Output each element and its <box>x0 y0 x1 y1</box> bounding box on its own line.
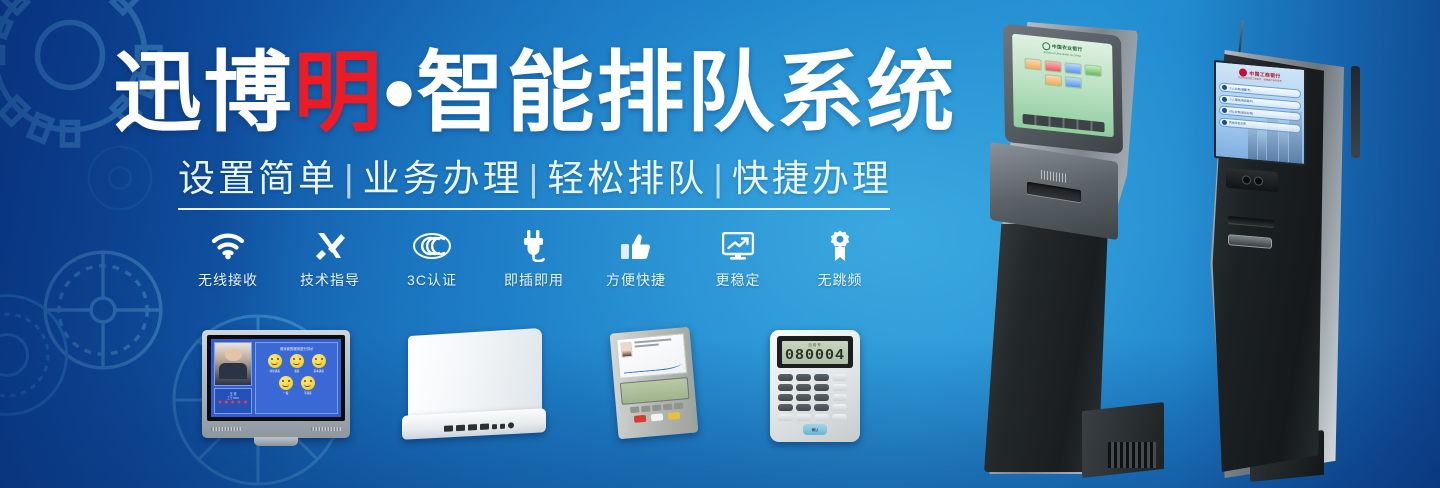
service-tile[interactable] <box>1084 64 1101 77</box>
subtitle-separator: | <box>523 158 548 199</box>
evaluator-body <box>610 327 699 440</box>
option-label: 个人业务(储蓄卡) <box>1229 86 1250 92</box>
keypad-key[interactable] <box>778 394 793 401</box>
card-photo <box>620 342 632 358</box>
card-id-line <box>635 343 659 347</box>
router-port <box>480 423 489 429</box>
keypad-key[interactable] <box>796 384 811 391</box>
option-label: 其他综合业务 <box>1229 120 1246 125</box>
subtitle-separator: | <box>707 158 732 199</box>
screen-bottom-strip <box>1023 114 1105 133</box>
face-caption: 非常满意 <box>267 369 282 373</box>
monitor-stand <box>254 437 298 446</box>
kiosk-right-antenna <box>1238 20 1244 54</box>
feature-item-nohop: 无跳频 <box>790 226 890 290</box>
speaker-grille <box>211 427 241 431</box>
keypad-key[interactable] <box>832 384 847 391</box>
feature-item-wireless: 无线接收 <box>178 226 278 290</box>
gear-icon <box>0 255 100 455</box>
photo-head <box>225 349 242 362</box>
monitor-rating-panel: 请对我的服务进行评价 非常满意 满意 基本满意 一般 不满意 <box>255 342 338 414</box>
feature-label: 无跳频 <box>790 270 890 290</box>
product-evaluation-monitor: 王 芳 工号 0001 ★★★★★ 请对我的服务进行评价 非常满意 满意 基本满… <box>202 330 350 438</box>
evaluator-key[interactable] <box>673 403 682 410</box>
face-caption: 基本满意 <box>311 369 326 373</box>
speaker-grille <box>311 427 341 431</box>
keypad-key[interactable] <box>796 414 811 421</box>
keypad-key[interactable] <box>832 414 847 421</box>
kiosk-left-vent <box>1108 442 1156 468</box>
keypad-key[interactable] <box>778 384 793 391</box>
evaluator-key[interactable] <box>630 406 639 413</box>
keypad-key[interactable] <box>778 414 793 421</box>
option-label: 个人理财(贵宾客户) <box>1229 97 1253 103</box>
headline-highlight: 明 <box>294 49 384 137</box>
banner-headline: 迅博明•智能排队系统 <box>170 38 900 148</box>
keypad-key[interactable] <box>778 374 793 381</box>
product-call-keypad: 当前号 080004 确认 <box>770 330 860 442</box>
feature-label: 无线接收 <box>178 270 278 290</box>
keypad-key[interactable] <box>832 374 847 381</box>
keypad-key[interactable] <box>814 394 829 401</box>
headline-part-1: 迅博 <box>114 49 294 137</box>
keypad-enter-label: 确认 <box>812 427 819 432</box>
headline-part-2: 智能排队系统 <box>416 49 956 137</box>
feature-item-support: 技术指导 <box>280 226 380 290</box>
rating-face[interactable]: 不满意 <box>300 376 315 395</box>
evaluator-button-panel <box>621 402 693 434</box>
keypad-key[interactable] <box>778 404 793 411</box>
router-port <box>468 424 477 430</box>
kiosk-right-side-vent <box>1351 66 1360 159</box>
rating-face[interactable]: 非常满意 <box>267 354 282 373</box>
face-caption: 不满意 <box>300 391 315 395</box>
keypad-key[interactable] <box>796 374 811 381</box>
evaluator-name-card <box>616 333 687 379</box>
keypad-key[interactable] <box>796 394 811 401</box>
keypad-key[interactable] <box>814 384 829 391</box>
kiosk-left-head: 中国农业银行 AGRICULTURAL BANK OF CHINA <box>1003 24 1123 155</box>
feature-label: 即插即用 <box>484 270 584 290</box>
card-name-line <box>634 338 671 343</box>
keypad-key[interactable] <box>814 414 829 421</box>
rating-face-group: 非常满意 满意 基本满意 一般 不满意 <box>258 354 335 395</box>
thumbs-up-icon <box>586 226 686 266</box>
feature-label: 技术指导 <box>280 270 380 290</box>
tools-icon <box>280 226 380 266</box>
kiosk-left-base <box>1082 402 1164 478</box>
evaluator-button-very-satisfied[interactable] <box>668 412 681 420</box>
monitor-base-bezel <box>207 423 345 435</box>
ticket-dispenser-slot <box>1027 182 1081 203</box>
staff-id: 工号 0001 <box>215 396 251 400</box>
subtitle-item-0: 设置简单 <box>178 158 338 199</box>
reader-sensor-icon <box>1254 176 1263 186</box>
card-text-lines <box>634 338 680 347</box>
evaluator-key[interactable] <box>662 404 671 411</box>
service-tile[interactable] <box>1044 74 1061 87</box>
keypad-key[interactable] <box>832 404 847 411</box>
service-tile[interactable] <box>1064 62 1081 75</box>
headline-dot: • <box>384 49 417 137</box>
keypad-key-grid <box>778 374 852 421</box>
product-queue-kiosk-right: 中国工商银行 欢迎光临中国工商银行，请按提示操作取号 个人业务(储蓄卡) 个人理… <box>1196 20 1376 484</box>
power-plug-icon <box>484 226 584 266</box>
rating-face[interactable]: 满意 <box>289 354 304 373</box>
router-power-jack <box>508 422 514 428</box>
option-bullet-icon <box>1222 119 1227 124</box>
rating-question: 请对我的服务进行评价 <box>258 346 335 351</box>
staff-photo <box>214 342 252 386</box>
banner-subtitle: 设置简单|业务办理|轻松排队|快捷办理 <box>178 148 890 202</box>
router-port <box>456 425 465 431</box>
keypad-key[interactable] <box>814 404 829 411</box>
kiosk-left-screen[interactable]: 中国农业银行 AGRICULTURAL BANK OF CHINA <box>1012 34 1114 138</box>
abc-logo-icon <box>1042 42 1050 51</box>
keypad-key[interactable] <box>832 394 847 401</box>
evaluator-key[interactable] <box>651 405 660 412</box>
award-ribbon-icon <box>790 226 890 266</box>
feature-item-ccc: 3C认证 <box>382 226 482 290</box>
product-desk-evaluator <box>600 324 710 442</box>
router-button <box>492 424 497 429</box>
service-tile[interactable] <box>1024 58 1041 71</box>
monitor-screen: 王 芳 工号 0001 ★★★★★ 请对我的服务进行评价 非常满意 满意 基本满… <box>211 339 341 417</box>
feature-item-plugplay: 即插即用 <box>484 226 584 290</box>
rating-face[interactable]: 基本满意 <box>311 354 326 373</box>
feature-list: 无线接收 技术指导 <box>178 226 890 292</box>
subtitle-item-1: 业务办理 <box>363 158 523 199</box>
product-queue-kiosk-left: 中国农业银行 AGRICULTURAL BANK OF CHINA <box>962 16 1192 484</box>
option-bullet-icon <box>1222 85 1227 90</box>
feature-label: 方便快捷 <box>586 270 686 290</box>
option-bullet-icon <box>1222 108 1227 113</box>
keypad-lcd: 当前号 080004 <box>782 341 848 364</box>
keypad-key[interactable] <box>814 374 829 381</box>
wifi-icon <box>178 226 278 266</box>
router-button <box>500 423 505 428</box>
promotional-banner: 迅博明•智能排队系统 设置简单|业务办理|轻松排队|快捷办理 无线接收 <box>0 0 1440 488</box>
option-label: 对公业务(单位业务) <box>1229 109 1253 115</box>
kiosk-right-screen[interactable]: 中国工商银行 欢迎光临中国工商银行，请按提示操作取号 个人业务(储蓄卡) 个人理… <box>1214 60 1306 166</box>
keypad-enter-button[interactable]: 确认 <box>803 424 827 435</box>
option-bullet-icon <box>1222 96 1227 101</box>
subtitle-item-2: 轻松排队 <box>547 158 707 199</box>
product-wireless-router <box>402 332 546 436</box>
reader-sensor-icon <box>1242 175 1251 185</box>
face-caption: 满意 <box>289 369 304 373</box>
gear-icon <box>18 225 188 395</box>
router-port <box>444 425 453 431</box>
photo-body <box>219 363 247 379</box>
rating-stars: ★★★★★ <box>215 400 251 407</box>
service-menu-grid <box>1017 57 1109 92</box>
queue-option-list: 个人业务(储蓄卡) 个人理财(贵宾客户) 对公业务(单位业务) 其他综合业务 <box>1219 82 1301 133</box>
feature-label: 更稳定 <box>688 270 788 290</box>
monitor-staff-panel: 王 芳 工号 0001 ★★★★★ <box>214 342 252 414</box>
keypad-display-housing: 当前号 080004 <box>777 336 853 368</box>
product-showcase: 王 芳 工号 0001 ★★★★★ 请对我的服务进行评价 非常满意 满意 基本满… <box>180 318 900 450</box>
feature-label: 3C认证 <box>382 270 482 290</box>
evaluator-button-dissatisfied[interactable] <box>634 415 647 423</box>
keypad-key[interactable] <box>796 404 811 411</box>
face-caption: 一般 <box>278 391 293 395</box>
feature-item-stable: 更稳定 <box>688 226 788 290</box>
rating-face[interactable]: 一般 <box>278 376 293 395</box>
keypad-lcd-value: 080004 <box>785 348 845 363</box>
service-tile[interactable] <box>1044 60 1061 73</box>
evaluator-lcd <box>620 377 690 405</box>
router-panel <box>408 328 542 422</box>
monitor-chart-icon <box>688 226 788 266</box>
icbc-logo-icon <box>1239 68 1247 77</box>
evaluator-button-satisfied[interactable] <box>651 413 664 421</box>
staff-name-plate: 王 芳 工号 0001 ★★★★★ <box>214 388 252 414</box>
subtitle-separator: | <box>338 158 363 199</box>
ccc-certification-icon <box>382 226 482 266</box>
section-divider <box>178 208 890 210</box>
kiosk-left-brand-mark <box>1041 170 1067 183</box>
service-tile[interactable] <box>1064 76 1081 89</box>
evaluator-key[interactable] <box>640 405 649 412</box>
feature-item-convenient: 方便快捷 <box>586 226 686 290</box>
monitor-bezel: 王 芳 工号 0001 ★★★★★ 请对我的服务进行评价 非常满意 满意 基本满… <box>207 335 345 421</box>
card-swoosh <box>623 355 682 374</box>
subtitle-item-3: 快捷办理 <box>732 158 892 199</box>
